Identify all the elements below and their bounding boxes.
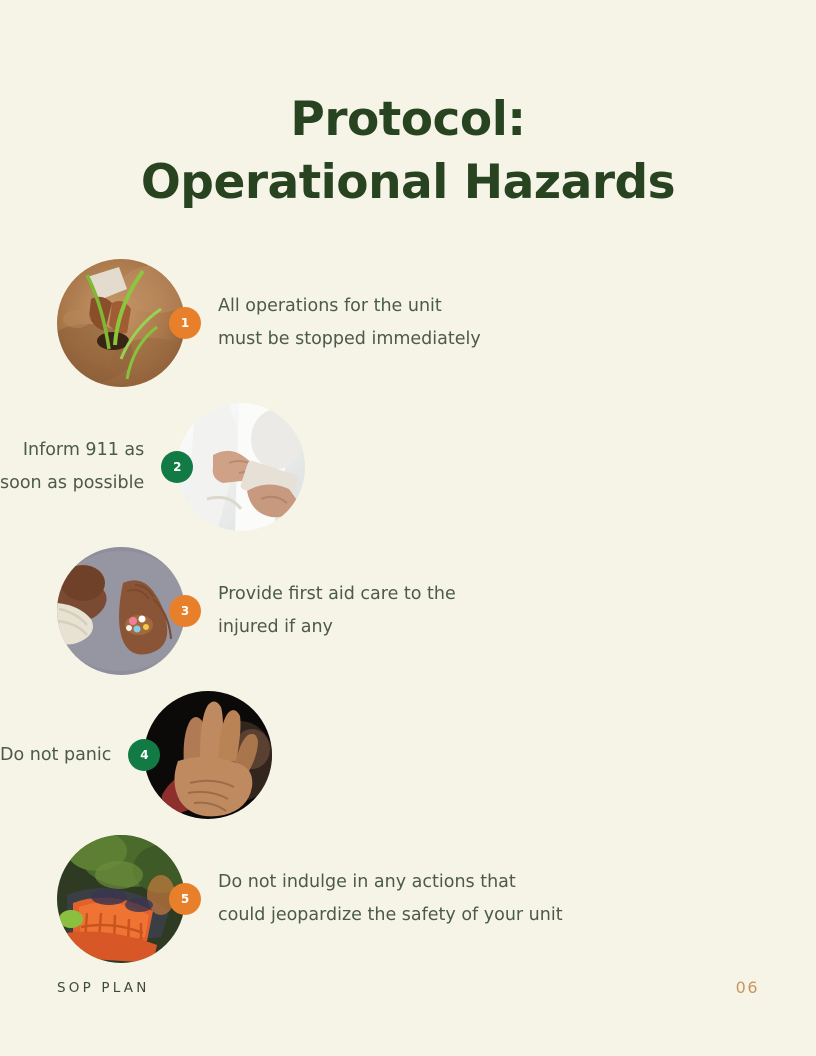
step-text-line-1: Do not indulge in any actions that: [218, 866, 563, 899]
bandaged-arm-and-hand-with-pills-photo: [57, 547, 185, 675]
step-text-line-2: could jeopardize the safety of your unit: [218, 899, 563, 932]
open-palm-stop-gesture-photo: [144, 691, 272, 819]
step-text: All operations for the unit must be stop…: [218, 290, 481, 356]
step-thumbnail-wrap: 3: [57, 547, 185, 675]
step-text: Inform 911 as soon as possible: [0, 434, 144, 500]
step-thumbnail-wrap: 1: [57, 259, 185, 387]
step-text-line-2: injured if any: [218, 611, 456, 644]
list-item: 1 All operations for the unit must be st…: [0, 258, 816, 388]
title-line-1: Protocol:: [0, 88, 816, 151]
list-item: 5 Do not indulge in any actions that cou…: [0, 834, 816, 964]
step-text: Provide first aid care to the injured if…: [218, 578, 456, 644]
step-thumbnail-wrap: 2: [177, 403, 305, 531]
page-title: Protocol: Operational Hazards: [0, 88, 816, 214]
step-text-line-2: must be stopped immediately: [218, 323, 481, 356]
list-item: 4 Do not panic: [0, 690, 816, 820]
step-thumbnail-wrap: 5: [57, 835, 185, 963]
step-text-line-1: All operations for the unit: [218, 290, 481, 323]
step-text-line-1: Inform 911 as: [0, 434, 144, 467]
step-text: Do not panic: [0, 739, 111, 772]
step-text-line-2: soon as possible: [0, 467, 144, 500]
step-text: Do not indulge in any actions that could…: [218, 866, 563, 932]
title-line-2: Operational Hazards: [0, 151, 816, 214]
step-text-line-1: Do not panic: [0, 739, 111, 772]
hands-using-mobile-phone-photo: [177, 403, 305, 531]
step-badge: 5: [169, 883, 201, 915]
page-number: 06: [736, 978, 759, 997]
step-thumbnail-wrap: 4: [144, 691, 272, 819]
protocol-steps-list: 1 All operations for the unit must be st…: [0, 258, 816, 978]
orange-harvest-crates-photo: [57, 835, 185, 963]
list-item: 3 Provide first aid care to the injured …: [0, 546, 816, 676]
step-badge: 3: [169, 595, 201, 627]
page-footer: SOP PLAN 06: [57, 978, 759, 997]
footer-label: SOP PLAN: [57, 980, 150, 996]
list-item: 2 Inform 911 as soon as possible: [0, 402, 816, 532]
hands-planting-seedling-in-soil-photo: [57, 259, 185, 387]
step-badge: 1: [169, 307, 201, 339]
step-text-line-1: Provide first aid care to the: [218, 578, 456, 611]
step-badge: 2: [161, 451, 193, 483]
